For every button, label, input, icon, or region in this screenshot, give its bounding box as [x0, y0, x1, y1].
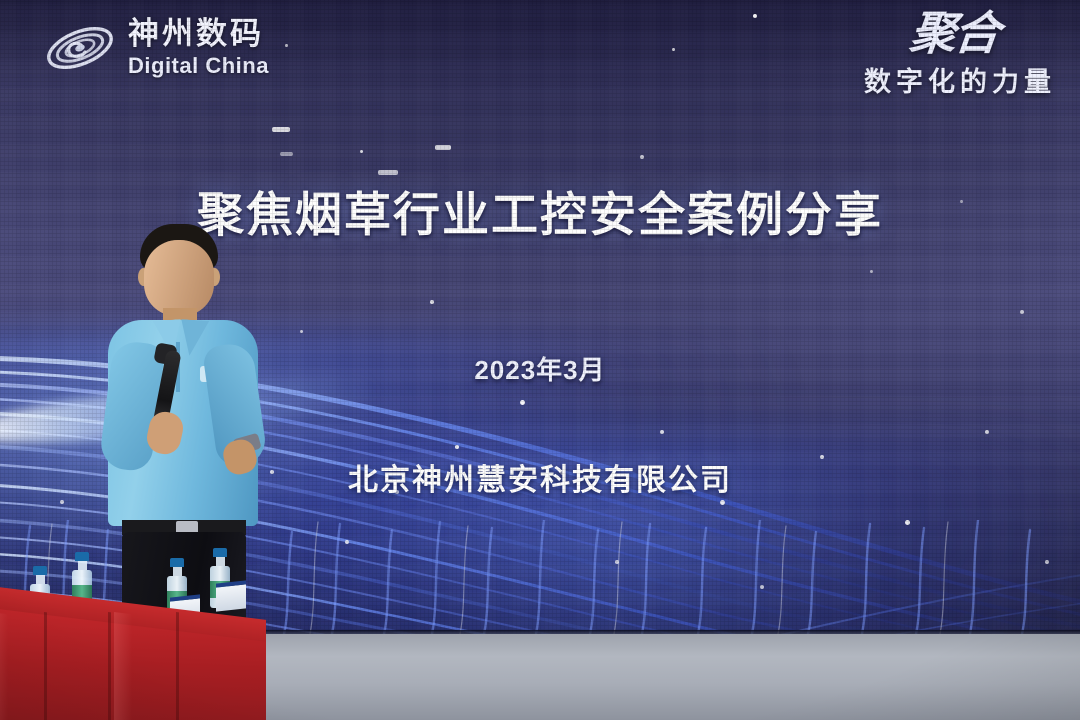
red-conference-table [0, 586, 270, 720]
stage-photo: 聚焦烟草行业工控安全案例分享 2023年3月 北京神州慧安科技有限公司 神州数码 [0, 0, 1080, 720]
speaker-face-shading [144, 240, 214, 316]
